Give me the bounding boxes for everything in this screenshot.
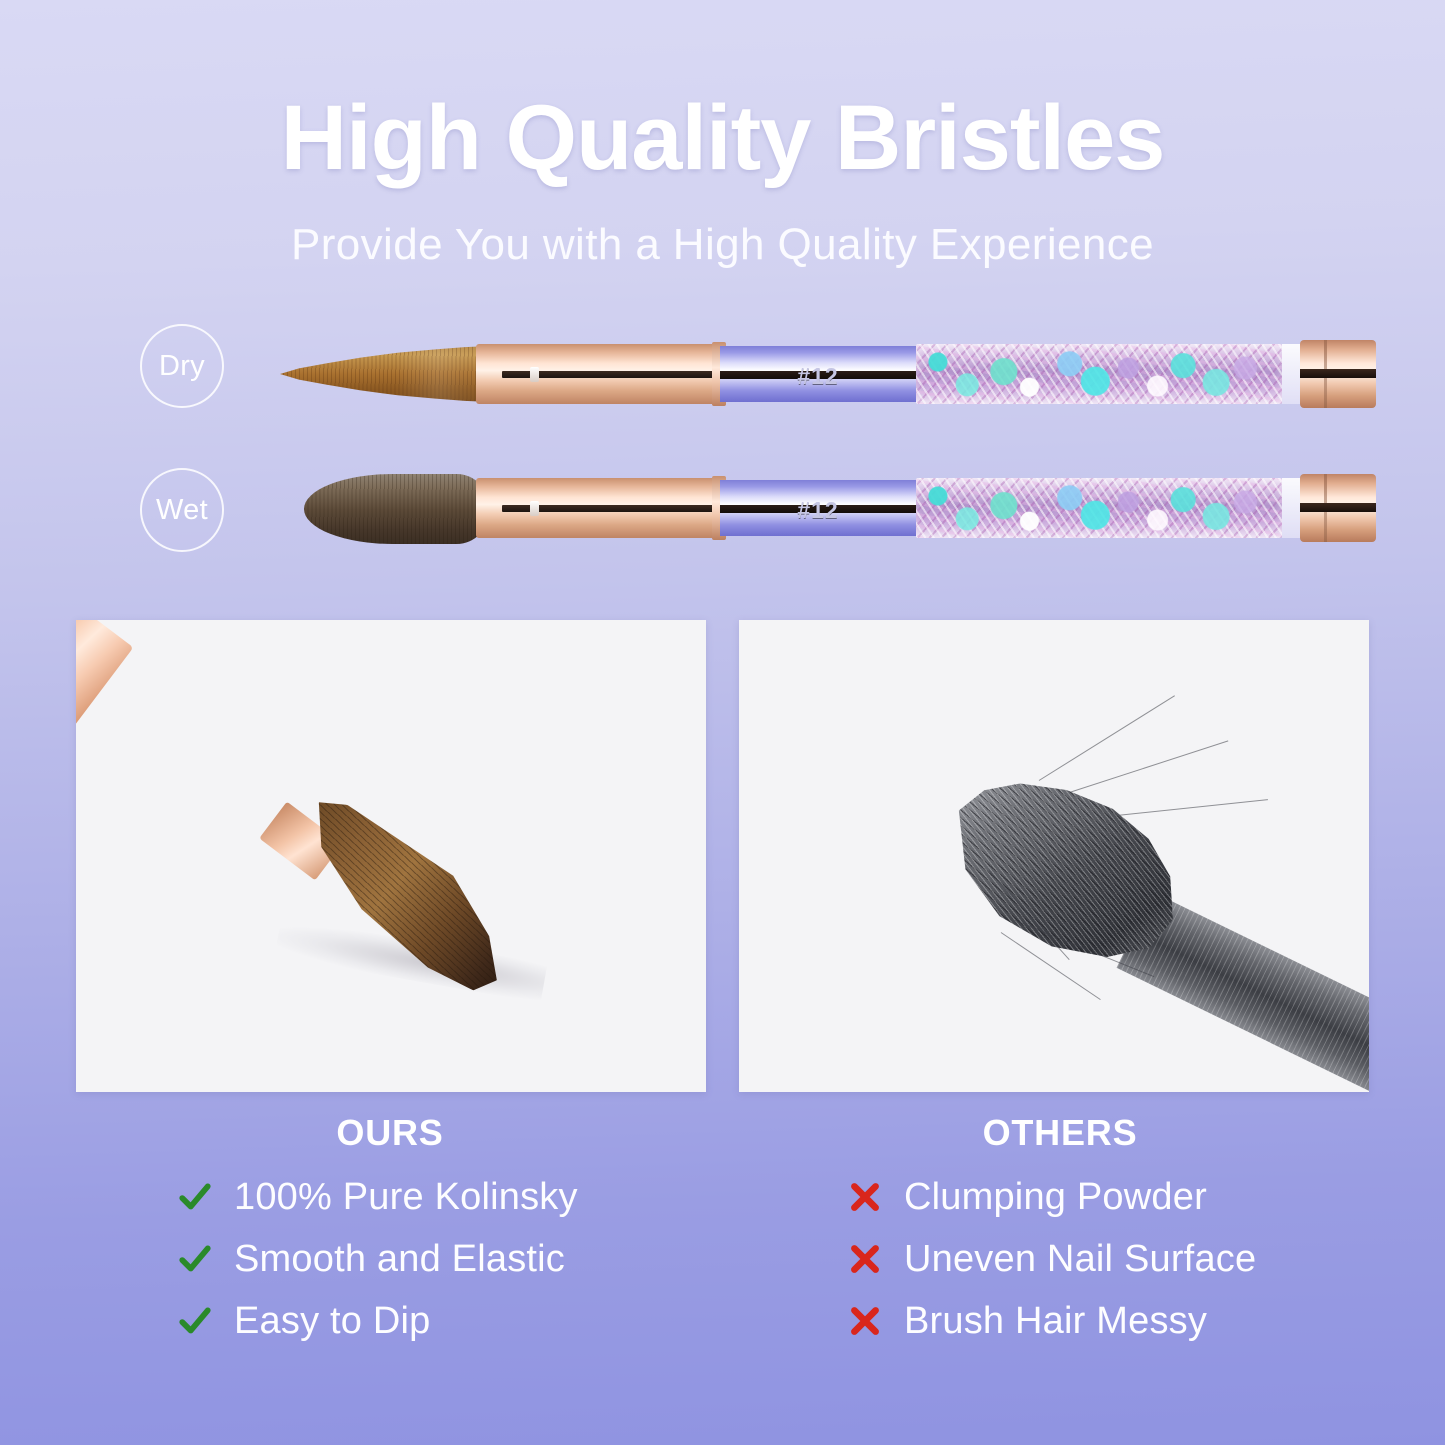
brush-endcap-band-wet: [1300, 503, 1376, 512]
state-badge-wet: Wet: [140, 468, 224, 552]
cross-icon: [848, 1242, 882, 1276]
list-item: 100% Pure Kolinsky: [178, 1166, 720, 1228]
page-subtitle: Provide You with a High Quality Experien…: [0, 184, 1445, 270]
brush-size-label-dry: #12: [720, 363, 916, 390]
brush-illustration-dry: #12: [280, 322, 1360, 442]
list-item: Easy to Dip: [178, 1290, 720, 1352]
brush-row-dry: Dry #12: [0, 322, 1445, 442]
header: High Quality Bristles Provide You with a…: [0, 0, 1445, 270]
list-item-label: 100% Pure Kolinsky: [234, 1176, 578, 1219]
brush-size-label-wet: #12: [720, 497, 916, 524]
brush-bristles-wet-icon: [304, 474, 490, 544]
ours-heading: OURS: [60, 1112, 720, 1166]
ours-photo-rose-gold-handle: [76, 620, 133, 935]
check-icon: [178, 1304, 212, 1338]
list-item-label: Easy to Dip: [234, 1300, 431, 1343]
others-photo-stray-hair: [1057, 740, 1228, 797]
cross-icon: [848, 1180, 882, 1214]
list-item-label: Smooth and Elastic: [234, 1238, 565, 1281]
list-item: Uneven Nail Surface: [848, 1228, 1390, 1290]
list-item: Clumping Powder: [848, 1166, 1390, 1228]
list-item: Brush Hair Messy: [848, 1290, 1390, 1352]
brush-endcap-band-dry: [1300, 369, 1376, 378]
brush-crimp-nub-dry: [530, 367, 539, 382]
brush-glitter-cap-clear-dry: [1282, 344, 1300, 404]
check-icon: [178, 1180, 212, 1214]
photo-comparison-panels: [0, 620, 1445, 1094]
brush-glitter-cap-clear-wet: [1282, 478, 1300, 538]
brush-row-wet: Wet #12: [0, 456, 1445, 576]
check-icon: [178, 1242, 212, 1276]
comparison-column-others: OTHERS Clumping Powder Uneven Nail Surfa…: [730, 1112, 1390, 1352]
page-title: High Quality Bristles: [0, 0, 1445, 184]
state-badge-dry-label: Dry: [159, 350, 205, 383]
others-brush-photo: [739, 620, 1369, 1092]
brush-crimp-nub-wet: [530, 501, 539, 516]
brush-illustration-wet: #12: [280, 456, 1360, 576]
ours-brush-photo: [76, 620, 706, 1092]
list-item-label: Brush Hair Messy: [904, 1300, 1207, 1343]
list-item: Smooth and Elastic: [178, 1228, 720, 1290]
state-badge-wet-label: Wet: [156, 494, 208, 527]
state-badge-dry: Dry: [140, 324, 224, 408]
brush-bristles-dry-icon: [280, 346, 490, 402]
brush-glitter-barrel-dry: [916, 344, 1282, 404]
brush-glitter-barrel-wet: [916, 478, 1282, 538]
others-photo-stray-hair: [1039, 695, 1175, 781]
others-heading: OTHERS: [730, 1112, 1390, 1166]
others-feature-list: Clumping Powder Uneven Nail Surface Brus…: [730, 1166, 1390, 1352]
cross-icon: [848, 1304, 882, 1338]
comparison-column-ours: OURS 100% Pure Kolinsky Smooth and Elast…: [60, 1112, 720, 1352]
comparison-section: OURS 100% Pure Kolinsky Smooth and Elast…: [0, 1112, 1445, 1392]
ours-feature-list: 100% Pure Kolinsky Smooth and Elastic Ea…: [60, 1166, 720, 1352]
list-item-label: Uneven Nail Surface: [904, 1238, 1256, 1281]
list-item-label: Clumping Powder: [904, 1176, 1207, 1219]
